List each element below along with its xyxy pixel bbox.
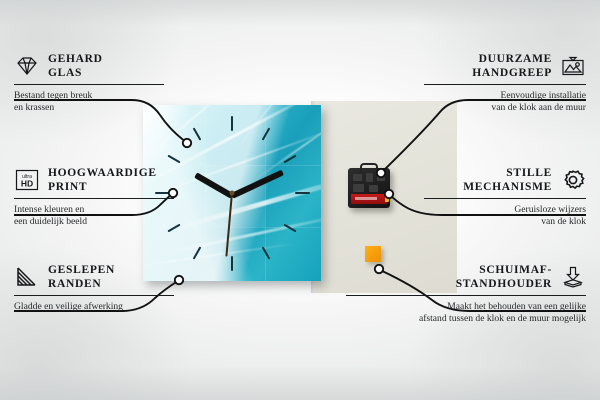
feature-stille-mechanisme: STILLE MECHANISME Geruisloze wijzers van… — [424, 166, 586, 228]
feature-title: GESLEPEN RANDEN — [48, 263, 115, 291]
feature-description: Gladde en veilige afwerking — [14, 301, 174, 313]
foam-spacer-pad — [365, 246, 381, 262]
aa-battery — [351, 194, 387, 204]
background-vignette-bottom — [0, 366, 600, 400]
feature-title: DUURZAME HANDGREEP — [472, 52, 552, 80]
feature-gehard-glas: GEHARD GLAS Bestand tegen breuk en krass… — [14, 52, 164, 114]
feature-schuimafstandhouder: SCHUIMAF- STANDHOUDER Maakt het behouden… — [346, 263, 586, 325]
picture-frame-hanging-icon — [560, 55, 586, 77]
movement-hook — [360, 163, 378, 173]
clock-tick — [231, 116, 233, 131]
clock-tick — [231, 256, 233, 271]
feature-divider — [14, 198, 174, 199]
product-infographic: GEHARD GLAS Bestand tegen breuk en krass… — [0, 0, 600, 400]
feature-title: GEHARD GLAS — [48, 52, 103, 80]
feature-description: Eenvoudige installatie van de klok aan d… — [424, 90, 586, 113]
clock-tick — [295, 192, 310, 194]
feature-header: DUURZAME HANDGREEP — [424, 52, 586, 80]
feature-duurzame-handgreep: DUURZAME HANDGREEP Eenvoudige installati… — [424, 52, 586, 114]
feature-divider — [14, 84, 164, 85]
beveled-edge-icon — [14, 266, 40, 288]
feature-divider — [14, 295, 174, 296]
quartz-movement-box — [348, 168, 390, 208]
feature-description: Intense kleuren en een duidelijk beeld — [14, 204, 174, 227]
gear-icon — [560, 169, 586, 191]
feature-header: GESLEPEN RANDEN — [14, 263, 174, 291]
feature-description: Geruisloze wijzers van de klok — [424, 204, 586, 227]
feature-description: Bestand tegen breuk en krassen — [14, 90, 164, 113]
feature-divider — [346, 295, 586, 296]
svg-text:HD: HD — [21, 179, 33, 189]
feature-header: ultra HD HOOGWAARDIGE PRINT — [14, 166, 174, 194]
foam-spacer-press-icon — [560, 266, 586, 288]
background-vignette-top — [0, 0, 600, 26]
feature-header: GEHARD GLAS — [14, 52, 164, 80]
feature-description: Maakt het behouden van een gelijke afsta… — [346, 301, 586, 324]
ultra-hd-icon: ultra HD — [14, 169, 40, 191]
feature-title: SCHUIMAF- STANDHOUDER — [456, 263, 552, 291]
feature-header: STILLE MECHANISME — [424, 166, 586, 194]
feature-divider — [424, 84, 586, 85]
diamond-icon — [14, 55, 40, 77]
feature-hoogwaardige-print: ultra HD HOOGWAARDIGE PRINT Intense kleu… — [14, 166, 174, 228]
feature-header: SCHUIMAF- STANDHOUDER — [346, 263, 586, 291]
feature-title: HOOGWAARDIGE PRINT — [48, 166, 157, 194]
feature-divider — [424, 198, 586, 199]
feature-title: STILLE MECHANISME — [463, 166, 552, 194]
clock-center-pin — [230, 191, 235, 196]
feature-geslepen-randen: GESLEPEN RANDEN Gladde en veilige afwerk… — [14, 263, 174, 313]
